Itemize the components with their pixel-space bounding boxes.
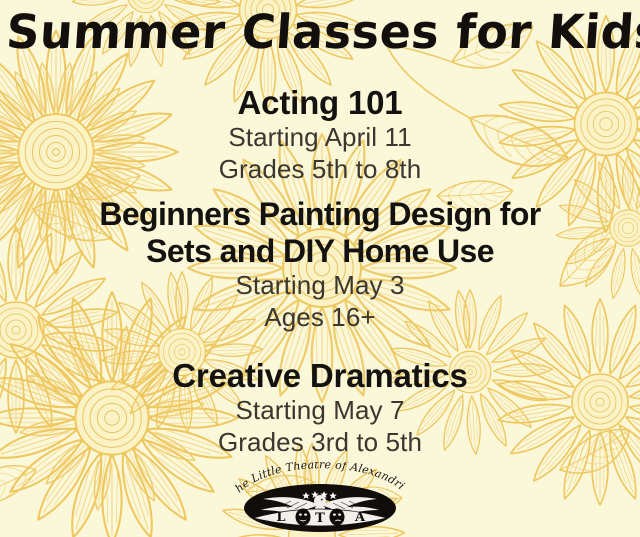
logo-letter-a: A <box>354 510 366 525</box>
class-audience: Grades 5th to 8th <box>0 154 640 186</box>
logo-letter-l: L <box>276 510 285 525</box>
class-title: Acting 101 <box>0 84 640 122</box>
class-audience: Grades 3rd to 5th <box>0 427 640 459</box>
class-title-line-2: Sets and DIY Home Use <box>0 233 640 270</box>
class-block-creative: Creative Dramatics Starting May 7 Grades… <box>0 357 640 459</box>
flyer-content: Summer Classes for Kids Acting 101 Start… <box>0 0 640 537</box>
page-title: Summer Classes for Kids <box>5 8 636 58</box>
class-block-acting: Acting 101 Starting April 11 Grades 5th … <box>0 84 640 186</box>
class-title-line-1: Beginners Painting Design for <box>0 196 640 233</box>
class-audience: Ages 16+ <box>0 302 640 334</box>
summer-classes-flyer: Summer Classes for Kids Acting 101 Start… <box>0 0 640 537</box>
class-start-date: Starting May 3 <box>0 270 640 302</box>
class-block-painting: Beginners Painting Design for Sets and D… <box>0 196 640 334</box>
class-start-date: Starting May 7 <box>0 395 640 427</box>
class-title: Creative Dramatics <box>0 357 640 395</box>
theatre-logo: The Little Theatre of Alexandria <box>227 462 413 534</box>
class-start-date: Starting April 11 <box>0 122 640 154</box>
logo-letter-t: T <box>315 511 325 526</box>
